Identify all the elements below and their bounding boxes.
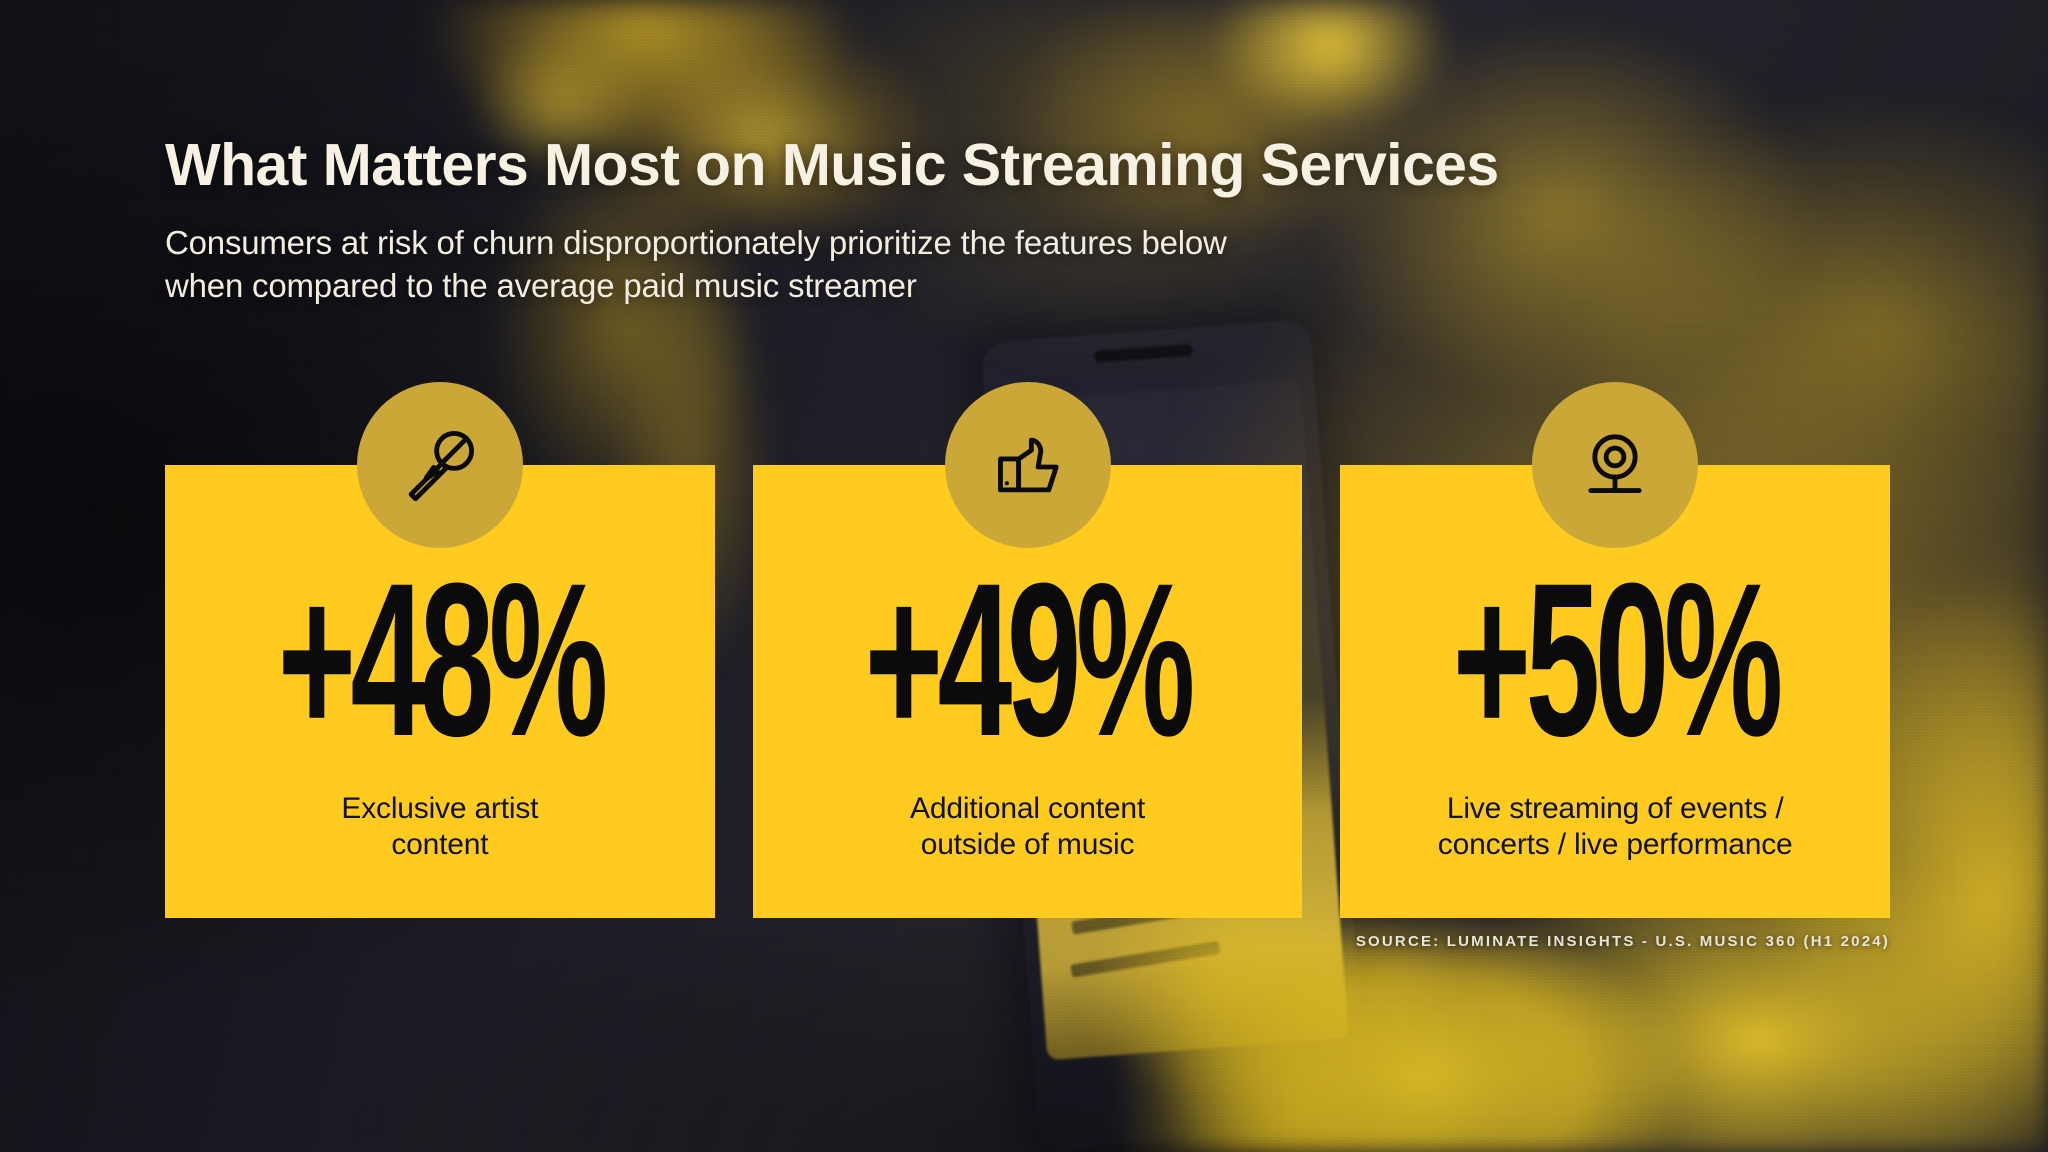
stat-value: +49%: [865, 565, 1190, 757]
stat-value: +50%: [1453, 565, 1778, 757]
stat-caption-line-1: Exclusive artist: [341, 791, 538, 828]
page-title: What Matters Most on Music Streaming Ser…: [165, 135, 1805, 197]
source-note: SOURCE: LUMINATE INSIGHTS - U.S. MUSIC 3…: [1356, 933, 1890, 950]
stat-caption: Live streaming of events / concerts / li…: [1438, 791, 1793, 864]
webcam-icon: [1532, 382, 1698, 548]
slide-root: What Matters Most on Music Streaming Ser…: [0, 0, 2048, 1152]
stat-card-row: +48% Exclusive artist content +49% Addit…: [165, 465, 1890, 918]
stat-caption-line-1: Live streaming of events /: [1438, 791, 1793, 828]
stat-caption-line-2: concerts / live performance: [1438, 827, 1793, 864]
stat-caption-line-1: Additional content: [910, 791, 1145, 828]
page-subtitle-line-2: when compared to the average paid music …: [165, 265, 1665, 308]
microphone-icon: [357, 382, 523, 548]
stat-caption-line-2: content: [341, 827, 538, 864]
stat-caption-line-2: outside of music: [910, 827, 1145, 864]
page-subtitle-line-1: Consumers at risk of churn disproportion…: [165, 222, 1665, 265]
stat-card-exclusive-artist-content[interactable]: +48% Exclusive artist content: [165, 465, 715, 918]
stat-caption: Additional content outside of music: [910, 791, 1145, 864]
page-subtitle: Consumers at risk of churn disproportion…: [165, 222, 1665, 308]
stat-value: +48%: [277, 565, 602, 757]
stat-card-additional-content[interactable]: +49% Additional content outside of music: [753, 465, 1303, 918]
thumbs-up-icon: [945, 382, 1111, 548]
stat-caption: Exclusive artist content: [341, 791, 538, 864]
stat-card-live-streaming[interactable]: +50% Live streaming of events / concerts…: [1340, 465, 1890, 918]
